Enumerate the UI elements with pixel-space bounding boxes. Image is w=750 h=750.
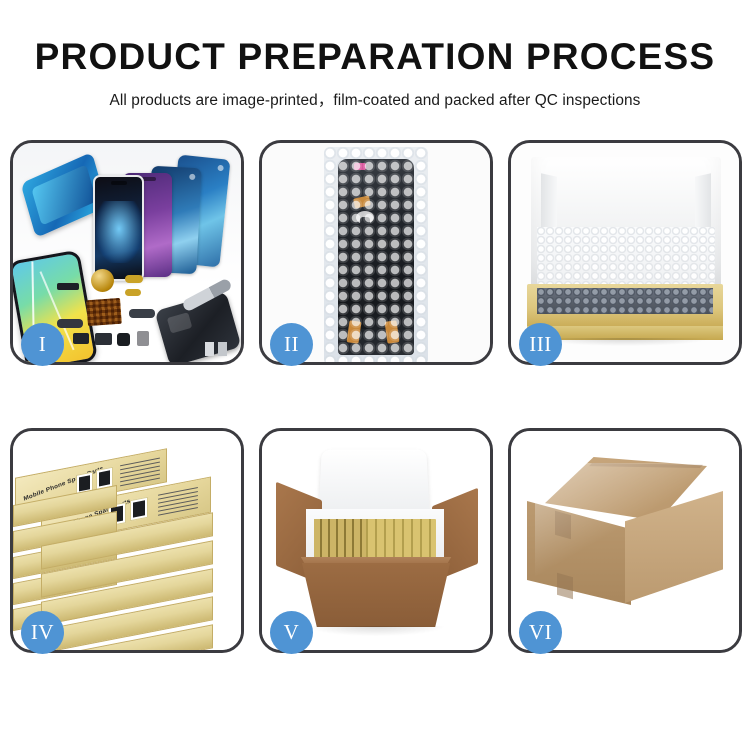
phone-display-icon [93,175,144,281]
process-step-panel-1[interactable]: I [10,140,244,365]
phone-display-fan [65,155,240,285]
carton-body-icon [302,563,450,627]
adhesive-tape-icon [347,320,362,343]
screws-icon [205,342,227,356]
drop-shadow [541,338,709,346]
spare-part-icon [137,331,149,346]
packing-tape-icon [557,573,573,600]
drop-shadow [308,626,444,636]
chip-grid-part-icon [86,298,122,326]
spare-part-icon [57,283,79,290]
process-step-panel-2[interactable]: II [259,140,493,365]
flex-cable-icon [360,217,370,329]
step-badge-6: VI [519,611,562,654]
process-step-grid: I II [10,140,742,678]
step-badge-4: IV [21,611,64,654]
step-badge-2: II [270,323,313,366]
process-step-panel-4[interactable]: Mobile Phone Spare Parts Mobile Phone Sp… [10,428,244,653]
spare-part-icon [95,333,112,345]
bubble-wrapped-contents-icon [537,288,713,314]
spare-part-icon [117,333,130,346]
adhesive-tape-icon [353,195,371,208]
lcd-screen-assembly-icon [338,159,414,355]
process-step-panel-3[interactable]: III [508,140,742,365]
foam-liner-icon [537,227,715,289]
carton-left-face [527,501,631,605]
process-step-panel-6[interactable]: VI [508,428,742,653]
sealed-carton-icon [527,457,723,615]
step-badge-5: V [270,611,313,654]
bubble-wrap-package [324,147,428,362]
product-preparation-infographic: PRODUCT PREPARATION PROCESS All products… [0,0,750,750]
step-badge-1: I [21,323,64,366]
packing-tape-icon [555,511,571,540]
spare-part-icon [73,333,89,344]
step-badge-3: III [519,323,562,366]
spare-part-icon [125,289,141,296]
kraft-tray-icon [527,284,723,328]
process-step-panel-5[interactable]: V [259,428,493,653]
spare-part-icon [125,275,143,283]
page-subtitle: All products are image-printed，film-coat… [0,75,750,110]
header: PRODUCT PREPARATION PROCESS All products… [0,0,750,110]
page-title: PRODUCT PREPARATION PROCESS [0,0,750,75]
pink-tab-icon [354,163,366,170]
packed-boxes-icon [314,519,366,563]
copper-coil-part-icon [91,269,114,292]
flex-cable-part-icon [129,309,155,318]
adhesive-tape-icon [385,320,400,343]
flex-cable-part-icon [57,319,83,328]
